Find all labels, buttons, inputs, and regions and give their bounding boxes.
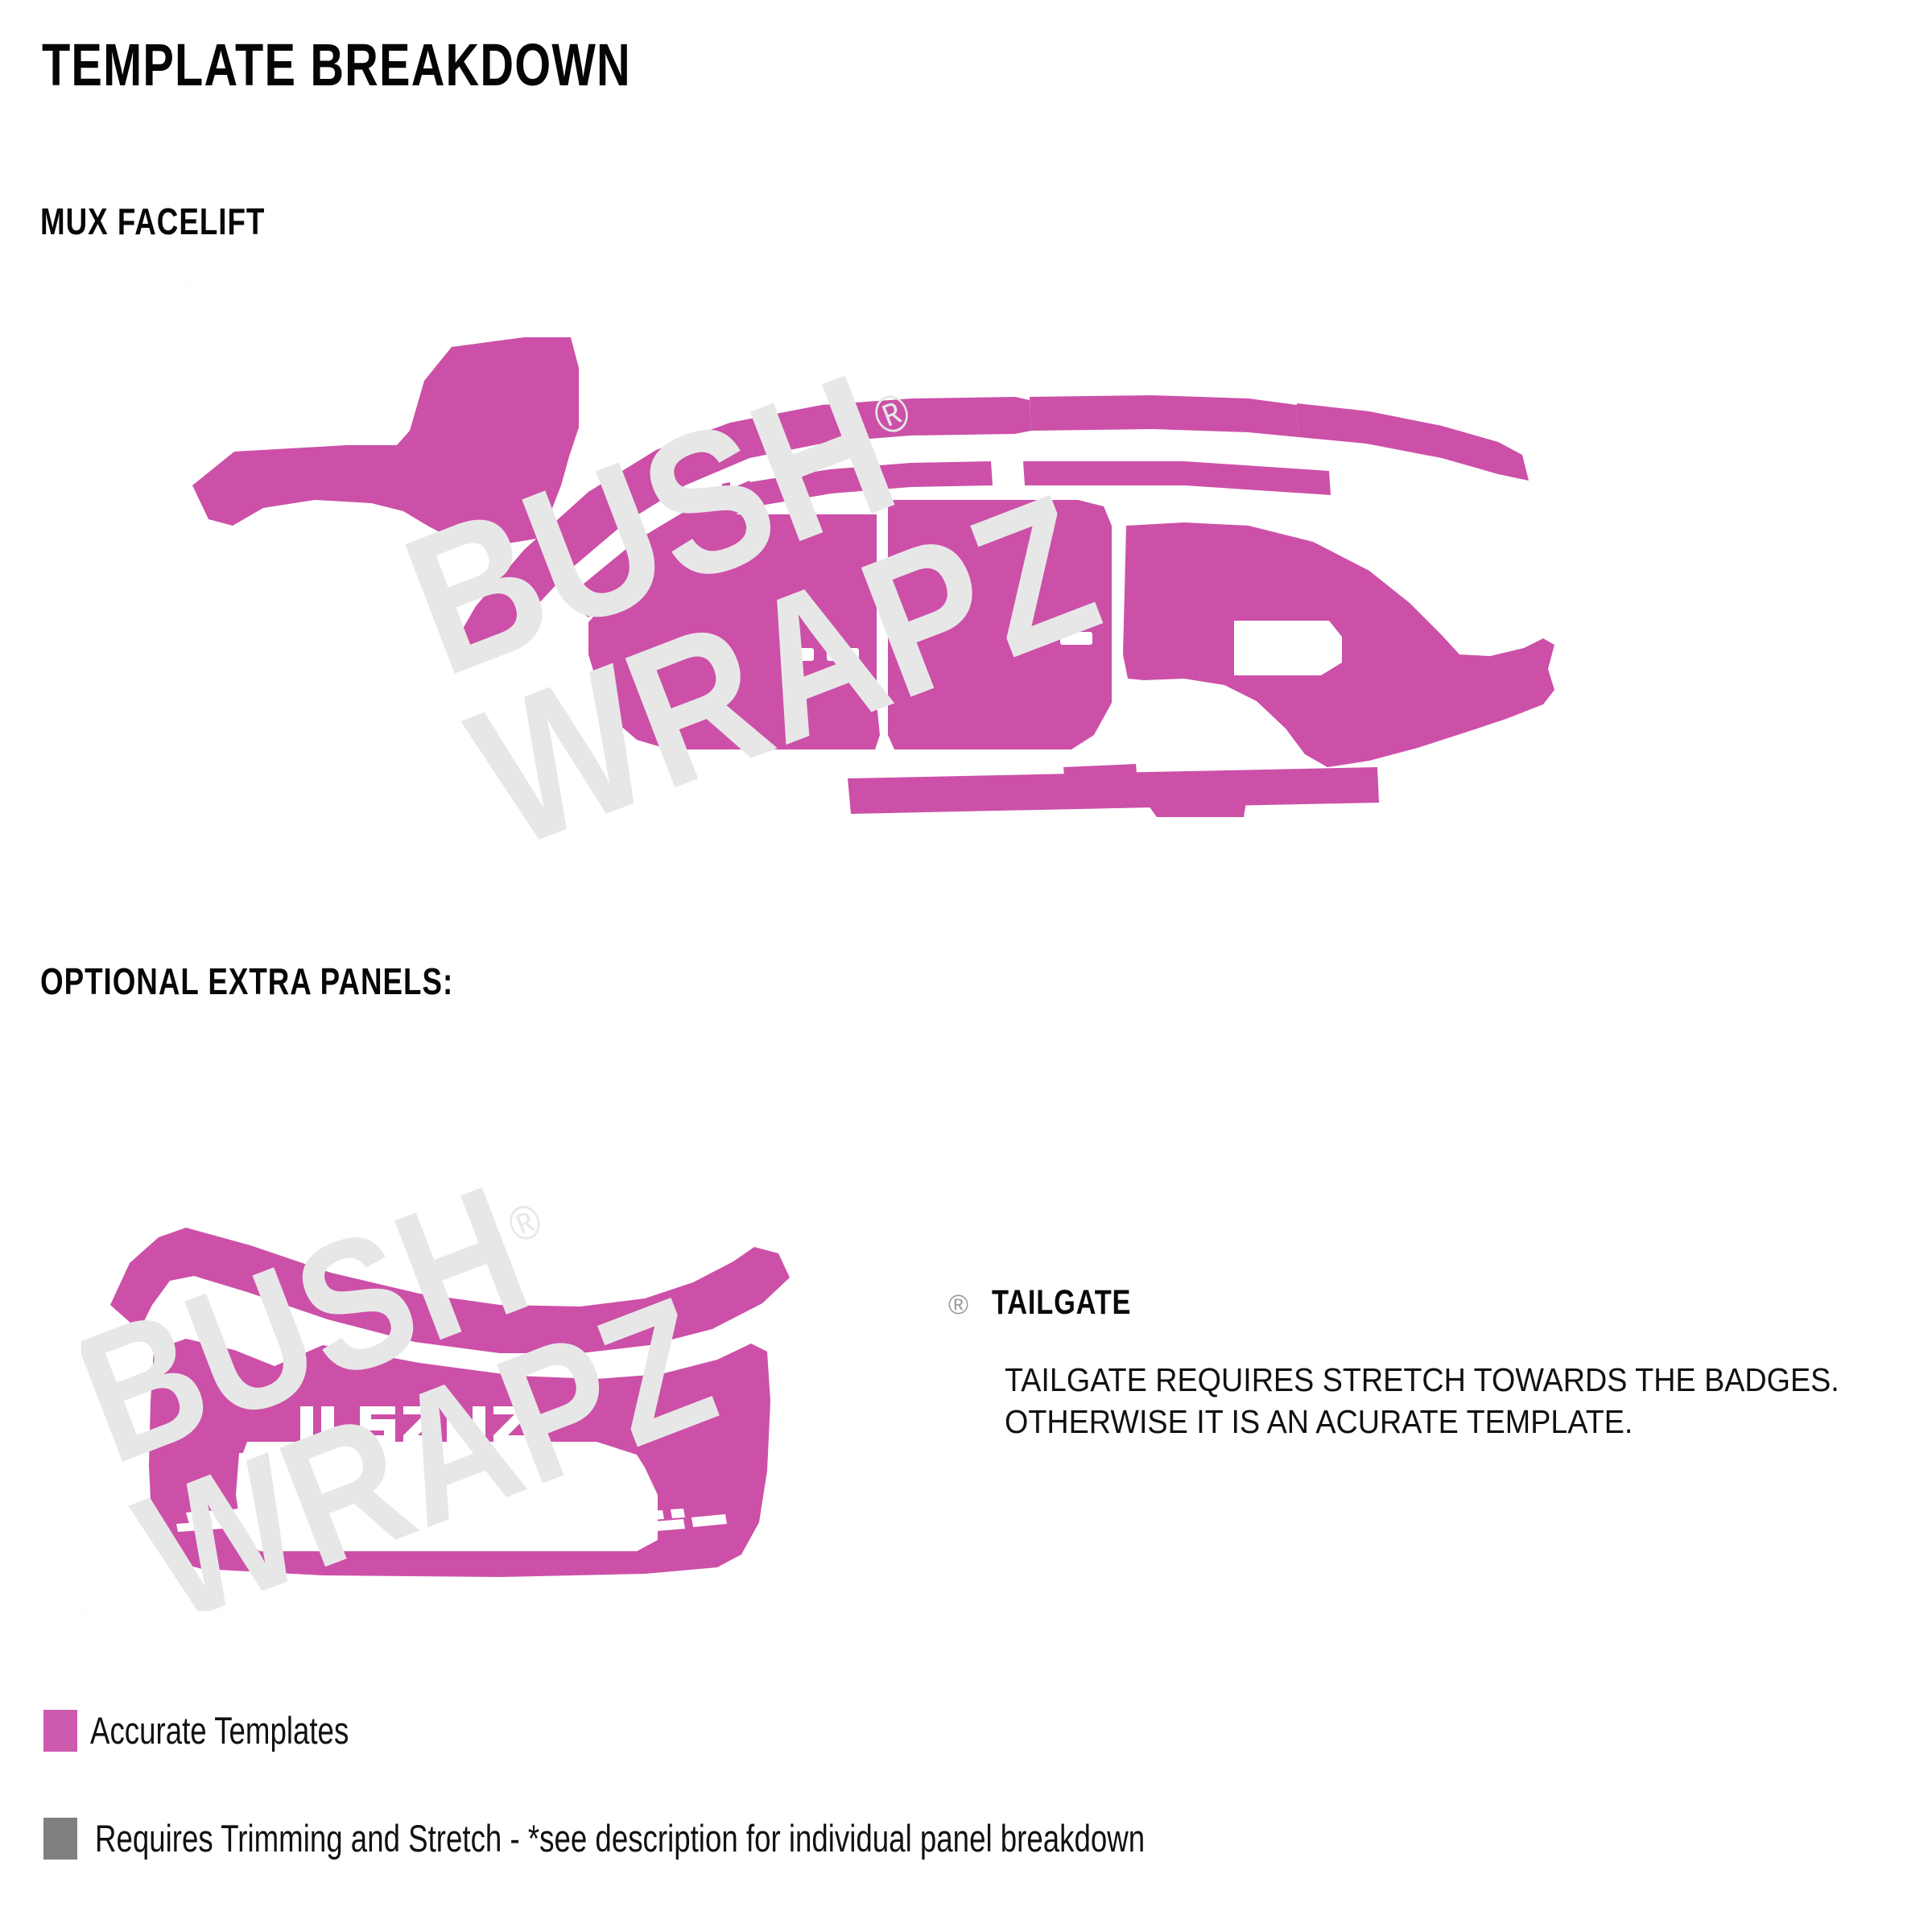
panel-roof-rail-rear [1030,395,1298,437]
section-heading-optional-extra-panels: OPTIONAL EXTRA PANELS: [40,960,453,1003]
panel-window-trim-rear [1023,461,1331,495]
panel-tailgate-upper-strip [110,1228,790,1353]
cutout-front-door-handle-1 [788,648,814,661]
panel-front-fender [192,337,579,543]
page-title: TEMPLATE BREAKDOWN [42,31,631,99]
tailgate-note-body: TAILGATE REQUIRES STRETCH TOWARDS THE BA… [1005,1359,1839,1443]
legend-swatch-accurate [43,1710,77,1752]
cutout-licence-plate-recess [236,1453,658,1551]
registered-trademark-icon: ® [948,1290,968,1321]
cutout-rear-door-handle-2 [1060,632,1092,645]
tailgate-panel-svg [81,1160,910,1611]
legend-label-accurate: Accurate Templates [90,1708,349,1752]
tailgate-note-line-1: TAILGATE REQUIRES STRETCH TOWARDS THE BA… [1005,1359,1839,1401]
cutout-fuel-filler-door [1234,621,1342,675]
panel-rear-door [888,500,1112,749]
tailgate-note-line-2: OTHERWISE IT IS AN ACURATE TEMPLATE. [1005,1401,1839,1443]
tailgate-note-title: TAILGATE [992,1283,1131,1323]
vehicle-panels-svg [186,284,1812,840]
vehicle-side-profile-diagram: BUSH® WRAPZ [185,283,1813,840]
panel-roof-to-spoiler [1297,403,1529,481]
panel-front-door [588,482,880,749]
section-heading-mux-facelift: MUX FACELIFT [40,200,265,243]
cutout-front-door-handle-2 [827,648,859,661]
tailgate-diagram: BUSH® WRAPZ [80,1159,911,1612]
panel-sill-extension [1063,764,1137,785]
cutout-rear-door-handle-1 [1022,632,1049,645]
legend-swatch-trimming [43,1818,77,1860]
legend-item-requires-trimming: Requires Trimming and Stretch - *see des… [43,1816,1441,1860]
panel-window-upper-trim [749,461,993,506]
legend-item-accurate-templates: Accurate Templates [43,1708,422,1752]
legend-label-trimming: Requires Trimming and Stretch - *see des… [95,1816,1145,1860]
